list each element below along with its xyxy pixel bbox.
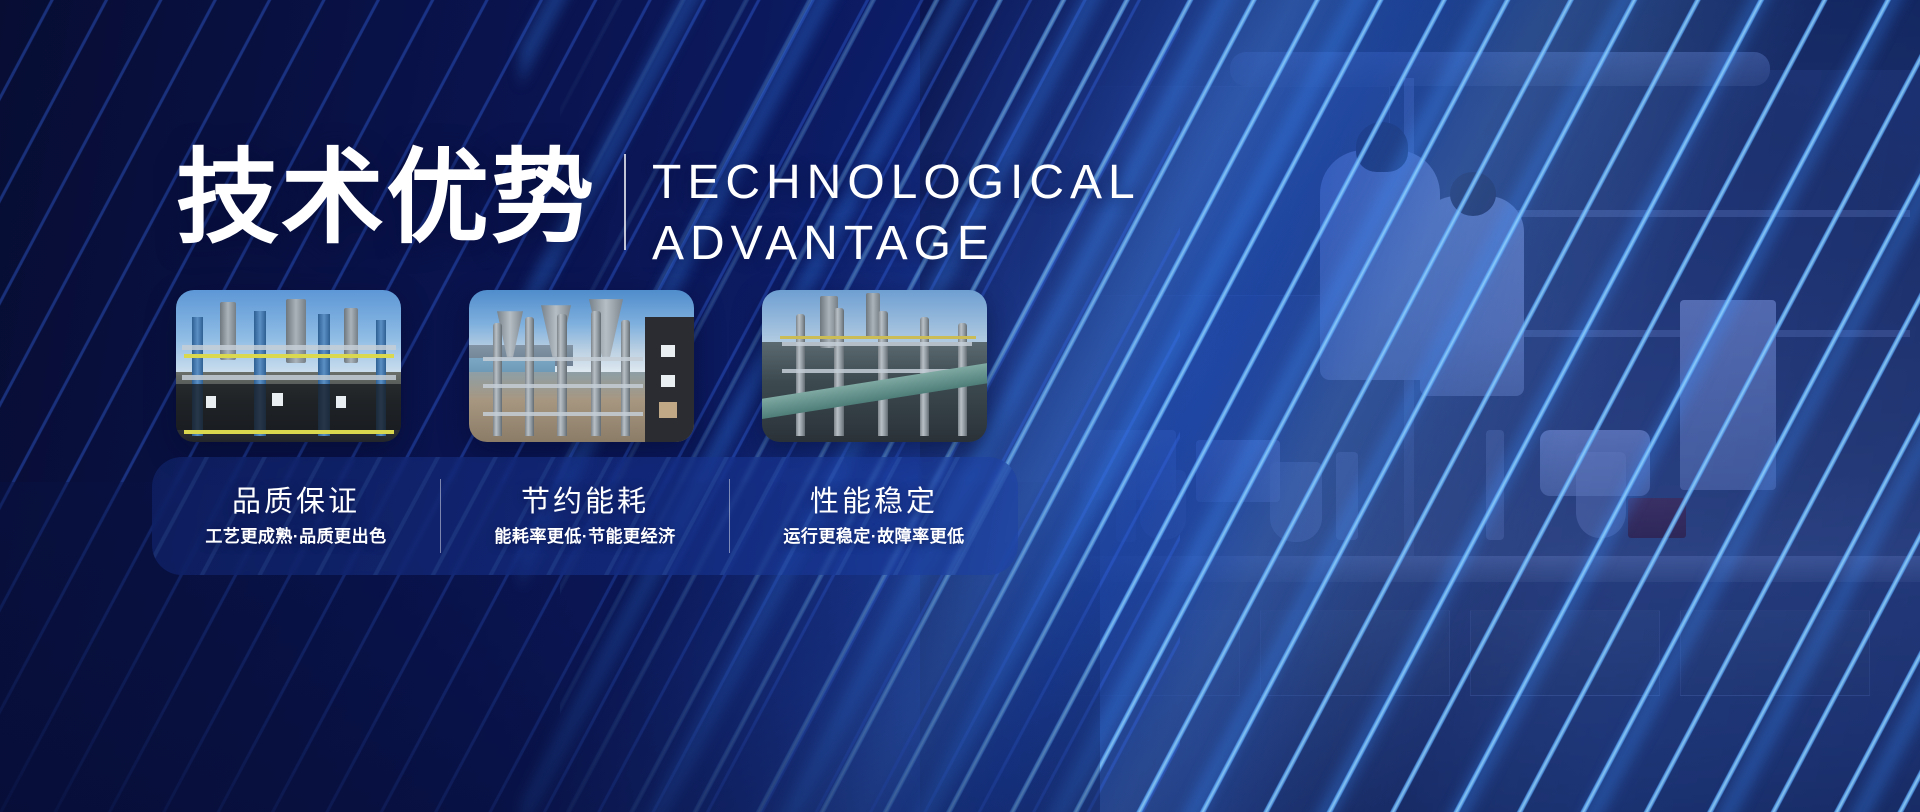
feature-subtitle: 工艺更成熟·品质更出色 xyxy=(158,527,434,547)
page-heading: 技术优势 TECHNOLOGICAL ADVANTAGE xyxy=(176,146,1141,275)
feature-info-panel: 品质保证 工艺更成熟·品质更出色 节约能耗 能耗率更低·节能更经济 性能稳定 运… xyxy=(152,457,1018,575)
thumb-beam xyxy=(782,342,972,346)
feature-subtitle: 运行更稳定·故障率更低 xyxy=(736,527,1012,547)
heading-divider xyxy=(624,154,626,250)
thumb-column xyxy=(621,320,630,436)
thumb-vessel xyxy=(220,302,236,360)
heading-english-line2: ADVANTAGE xyxy=(652,213,1141,274)
thumb-column xyxy=(796,314,805,436)
thumb-beam xyxy=(182,375,396,380)
thumb-sign xyxy=(272,393,283,406)
feature-title: 品质保证 xyxy=(158,484,434,520)
feature-item-stability[interactable]: 性能稳定 运行更稳定·故障率更低 xyxy=(730,484,1018,548)
thumb-beam xyxy=(182,345,396,350)
thumb-sign xyxy=(206,396,216,408)
card-image-energy[interactable] xyxy=(469,290,694,442)
thumb-rail xyxy=(184,430,394,434)
feature-title: 节约能耗 xyxy=(447,484,723,520)
technology-advantage-banner: 技术优势 TECHNOLOGICAL ADVANTAGE xyxy=(0,0,1920,812)
thumb-beam xyxy=(483,357,643,361)
thumb-sign xyxy=(336,396,346,408)
thumb-window xyxy=(661,375,675,387)
thumb-rail xyxy=(184,354,394,358)
feature-item-energy[interactable]: 节约能耗 能耗率更低·节能更经济 xyxy=(441,484,729,548)
thumb-window xyxy=(661,345,675,357)
thumb-column xyxy=(525,317,534,436)
heading-english-block: TECHNOLOGICAL ADVANTAGE xyxy=(652,152,1141,275)
thumb-column xyxy=(878,311,888,436)
thumb-rail xyxy=(780,336,976,339)
card-thumbnail-row xyxy=(176,290,987,442)
card-image-stability[interactable] xyxy=(762,290,987,442)
feature-item-quality[interactable]: 品质保证 工艺更成熟·品质更出色 xyxy=(152,484,440,548)
feature-subtitle: 能耗率更低·节能更经济 xyxy=(447,527,723,547)
thumb-column xyxy=(591,311,601,436)
heading-english-line1: TECHNOLOGICAL xyxy=(652,152,1141,213)
thumb-column xyxy=(557,314,567,436)
card-image-quality[interactable] xyxy=(176,290,401,442)
heading-chinese-title: 技术优势 xyxy=(176,146,596,249)
thumb-window xyxy=(659,402,677,418)
feature-title: 性能稳定 xyxy=(736,484,1012,520)
thumb-beam xyxy=(483,384,643,388)
thumb-beam xyxy=(483,412,643,416)
thumb-column xyxy=(493,323,502,435)
